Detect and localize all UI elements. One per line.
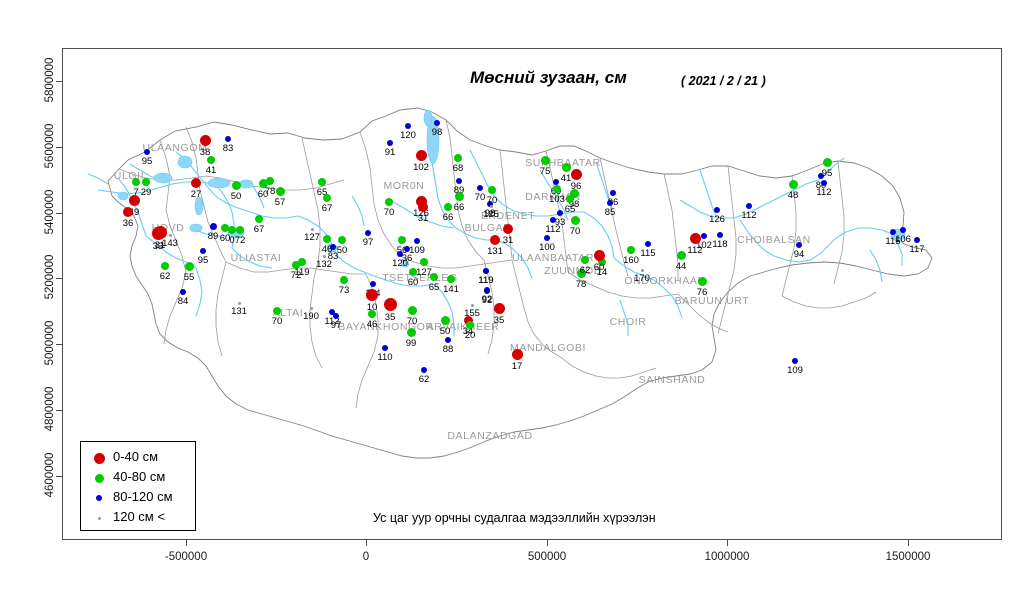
station-value-label: 127 — [304, 232, 320, 243]
station-point — [641, 269, 644, 272]
station-value-label: 48 — [788, 190, 799, 201]
station-point — [169, 234, 172, 237]
legend-item: 80-120 см — [81, 488, 197, 508]
station-value-label: 102 — [413, 162, 429, 173]
legend-label: 0-40 см — [113, 449, 158, 464]
station-point — [228, 226, 236, 234]
x-axis-tick — [908, 540, 909, 546]
station-point — [466, 321, 474, 329]
station-point — [418, 202, 428, 212]
station-point — [914, 237, 920, 243]
station-point — [333, 313, 339, 319]
station-point — [129, 195, 140, 206]
station-point — [488, 186, 496, 194]
station-point — [421, 367, 427, 373]
y-axis-tick — [56, 147, 62, 148]
station-point — [255, 215, 263, 223]
station-point — [456, 178, 462, 184]
station-point — [273, 307, 281, 315]
legend-swatch — [96, 495, 102, 501]
city-label: BARUUN URT — [675, 295, 750, 307]
station-point — [823, 158, 832, 167]
station-value-label: 17 — [512, 361, 523, 372]
station-point — [571, 169, 582, 180]
station-value-label: 88 — [443, 344, 454, 355]
station-value-label: 50 — [440, 326, 451, 337]
station-value-label: 97 — [363, 237, 374, 248]
station-value-label: 99 — [406, 338, 417, 349]
station-point — [447, 275, 455, 283]
x-axis-tick-label: 0 — [363, 551, 369, 563]
station-value-label: 31 — [503, 235, 514, 246]
station-value-label: 62 — [419, 374, 430, 385]
station-value-label: 72 — [235, 235, 246, 246]
station-point — [132, 178, 140, 186]
station-value-label: 60 — [594, 262, 605, 273]
station-point — [455, 192, 464, 201]
station-point — [398, 236, 406, 244]
y-axis-tick-label: 4800000 — [44, 383, 56, 435]
y-axis-tick-label: 4600000 — [44, 449, 56, 501]
legend-item: 120 см < — [81, 508, 197, 528]
station-point — [503, 224, 513, 234]
y-axis-tick — [56, 278, 62, 279]
station-point — [384, 298, 397, 311]
map-date: ( 2021 / 2 / 21 ) — [681, 74, 766, 88]
station-point — [323, 194, 331, 202]
y-axis-tick-label: 5400000 — [44, 186, 56, 238]
map-root: -500000050000010000001500000580000056000… — [0, 0, 1024, 614]
station-point — [232, 181, 241, 190]
station-point — [298, 258, 306, 266]
station-value-label: 120 — [392, 258, 408, 269]
station-value-label: 103 — [549, 194, 565, 205]
station-value-label: 112 — [816, 187, 831, 198]
city-label: BAYANKHONGOR — [338, 321, 434, 333]
station-value-label: 91 — [385, 147, 396, 158]
map-caption: Ус цаг уур орчны судалгаа мэдээллийн хүр… — [373, 511, 656, 525]
legend-item: 0-40 см — [81, 448, 197, 468]
station-value-label: 78 — [265, 186, 276, 197]
station-value-label: 73 — [339, 285, 350, 296]
station-point — [490, 235, 500, 245]
station-point — [225, 136, 231, 142]
station-point — [416, 150, 427, 161]
station-value-label: 117 — [909, 244, 924, 255]
station-point — [562, 163, 571, 172]
station-value-label: 155 — [464, 308, 480, 319]
station-value-label: 35 — [494, 315, 505, 326]
station-point — [690, 233, 701, 244]
station-point — [477, 185, 483, 191]
station-point — [471, 304, 474, 307]
city-label: SAINSHAND — [639, 374, 706, 386]
station-point — [512, 349, 523, 360]
station-value-label: 97 — [331, 320, 342, 331]
station-value-label: 67 — [322, 203, 333, 214]
station-point — [370, 281, 376, 287]
station-point — [310, 307, 313, 310]
station-value-label: 110 — [377, 352, 392, 363]
station-point — [550, 217, 556, 223]
station-value-label: 70 — [475, 192, 486, 203]
station-point — [645, 241, 651, 247]
station-value-label: 170 — [634, 273, 650, 284]
station-point — [698, 277, 707, 286]
station-point — [796, 242, 802, 248]
station-point — [407, 328, 416, 337]
station-point — [717, 232, 723, 238]
station-value-label: 112 — [741, 210, 756, 221]
station-point — [701, 233, 707, 239]
station-point — [266, 177, 274, 185]
station-point — [444, 203, 452, 211]
station-point — [404, 246, 410, 252]
station-value-label: 132 — [316, 259, 332, 270]
station-value-label: 62 — [160, 271, 171, 282]
station-point — [323, 255, 326, 258]
station-point — [330, 244, 336, 250]
station-value-label: 190 — [303, 311, 319, 322]
station-point — [207, 156, 215, 164]
station-point — [420, 258, 428, 266]
city-label: DALANZADGAD — [447, 430, 532, 442]
station-value-label: 76 — [697, 287, 708, 298]
station-value-label: 67 — [254, 224, 265, 235]
y-axis-tick-label: 5600000 — [44, 120, 56, 172]
station-value-label: 92 — [482, 295, 493, 306]
station-value-label: 95 — [142, 156, 153, 167]
station-value-label: 55 — [184, 272, 195, 283]
station-point — [409, 268, 417, 276]
station-value-label: 57 — [275, 197, 286, 208]
station-point — [454, 154, 462, 162]
station-point — [434, 120, 440, 126]
x-axis-tick — [727, 540, 728, 546]
station-value-label: 66 — [454, 202, 465, 213]
station-point — [142, 178, 150, 186]
station-point — [430, 273, 438, 281]
station-point — [821, 180, 827, 186]
legend-swatch — [98, 517, 101, 520]
station-value-label: 131 — [487, 246, 503, 257]
station-value-label: 109 — [787, 365, 803, 376]
station-point — [144, 149, 150, 155]
station-value-label: 95 — [198, 255, 209, 266]
station-point — [594, 250, 605, 261]
station-point — [557, 210, 563, 216]
city-label: MOR0N — [384, 180, 425, 192]
station-point — [340, 276, 348, 284]
y-axis-tick-label: 5200000 — [44, 251, 56, 303]
station-value-label: 68 — [453, 163, 464, 174]
station-value-label: 84 — [178, 296, 189, 307]
y-axis-tick — [56, 410, 62, 411]
station-value-label: 31 — [418, 213, 429, 224]
legend-swatch — [94, 453, 105, 464]
station-point — [185, 262, 194, 271]
station-value-label: 118 — [712, 239, 727, 250]
station-value-label: 29 — [141, 187, 152, 198]
station-point — [200, 248, 206, 254]
station-point — [323, 235, 331, 243]
station-point — [571, 216, 580, 225]
x-axis-tick-label: 1500000 — [886, 551, 931, 563]
x-axis-tick-label: 500000 — [528, 551, 566, 563]
station-value-label: 46 — [367, 319, 378, 330]
legend-label: 40-80 см — [113, 469, 165, 484]
station-value-label: 41 — [206, 165, 217, 176]
station-value-label: 62 — [580, 265, 591, 276]
station-point — [494, 303, 505, 314]
station-point — [414, 238, 420, 244]
station-point — [366, 289, 378, 301]
station-point — [544, 235, 550, 241]
station-value-label: 50 — [337, 245, 348, 256]
station-point — [161, 262, 169, 270]
station-point — [311, 228, 314, 231]
station-value-label: 70 — [570, 226, 581, 237]
station-point — [382, 345, 388, 351]
station-value-label: 126 — [709, 214, 725, 225]
station-point — [123, 207, 133, 217]
station-point — [484, 288, 490, 294]
station-value-label: 65 — [429, 282, 440, 293]
station-point — [581, 256, 589, 264]
station-point — [553, 185, 561, 193]
y-axis-tick-label: 5000000 — [44, 317, 56, 369]
city-label: ULAANGOM — [143, 142, 208, 154]
station-point — [627, 246, 635, 254]
station-value-label: 44 — [676, 261, 687, 272]
legend: 0-40 см40-80 см80-120 см120 см < — [80, 441, 196, 531]
station-value-label: 89 — [208, 231, 219, 242]
station-value-label: 125 — [483, 209, 499, 220]
station-value-label: 20 — [465, 330, 476, 341]
station-value-label: 112 — [687, 245, 702, 256]
x-axis-tick — [547, 540, 548, 546]
station-value-label: 41 — [561, 173, 572, 184]
city-label: CHOIR — [610, 316, 647, 328]
station-value-label: 119 — [478, 275, 493, 286]
plot-frame — [62, 48, 1002, 540]
station-point — [397, 251, 403, 257]
station-value-label: 83 — [223, 143, 234, 154]
station-value-label: 141 — [443, 284, 459, 295]
station-value-label: 70 — [384, 207, 395, 218]
station-point — [368, 310, 376, 318]
station-value-label: 112 — [545, 224, 560, 235]
station-point — [191, 178, 201, 188]
legend-label: 120 см < — [113, 509, 165, 524]
station-value-label: 115 — [640, 248, 655, 259]
station-value-label: 98 — [432, 127, 443, 138]
station-point — [714, 207, 720, 213]
station-point — [900, 227, 906, 233]
station-point — [441, 316, 450, 325]
city-label: ULIASTAI — [231, 252, 282, 264]
x-axis-tick-label: 1000000 — [705, 551, 750, 563]
station-point — [792, 358, 798, 364]
y-axis-tick — [56, 344, 62, 345]
station-point — [610, 190, 616, 196]
x-axis-tick — [186, 540, 187, 546]
station-value-label: 36 — [123, 218, 134, 229]
station-value-label: 66 — [443, 212, 454, 223]
station-point — [566, 195, 574, 203]
station-point — [238, 302, 241, 305]
y-axis-tick — [56, 213, 62, 214]
station-value-label: 70 — [487, 195, 498, 206]
station-point — [387, 140, 393, 146]
y-axis-tick — [56, 81, 62, 82]
legend-label: 80-120 см — [113, 489, 173, 504]
station-point — [445, 337, 451, 343]
station-point — [318, 178, 326, 186]
station-value-label: 27 — [191, 189, 202, 200]
station-point — [677, 251, 686, 260]
y-axis-tick — [56, 476, 62, 477]
station-value-label: 50 — [231, 191, 242, 202]
legend-swatch — [95, 474, 104, 483]
station-value-label: 70 — [407, 316, 418, 327]
station-point — [236, 226, 244, 234]
station-point — [180, 289, 186, 295]
station-value-label: 78 — [576, 279, 587, 290]
legend-item: 40-80 см — [81, 468, 197, 488]
station-value-label: 35 — [385, 312, 396, 323]
station-point — [276, 187, 285, 196]
station-value-label: 85 — [605, 207, 616, 218]
station-point — [483, 268, 489, 274]
x-axis-tick-label: -500000 — [165, 551, 207, 563]
station-point — [405, 123, 411, 129]
x-axis-tick — [366, 540, 367, 546]
station-point — [200, 135, 211, 146]
station-point — [408, 306, 417, 315]
station-point — [789, 180, 798, 189]
station-point — [607, 200, 613, 206]
station-value-label: 95 — [822, 168, 833, 179]
map-title: Мөсний зузаан, см — [470, 68, 627, 88]
station-point — [541, 156, 550, 165]
station-value-label: 100 — [539, 242, 555, 253]
station-point — [746, 203, 752, 209]
station-value-label: 70 — [272, 316, 283, 327]
station-value-label: 131 — [231, 306, 247, 317]
y-axis-tick-label: 5800000 — [44, 54, 56, 106]
station-value-label: 120 — [400, 130, 416, 141]
station-value-label: 65 — [565, 204, 576, 215]
station-value-label: 143 — [162, 238, 178, 249]
station-point — [210, 223, 217, 230]
station-value-label: 60 — [408, 277, 419, 288]
station-value-label: 94 — [794, 249, 805, 260]
station-value-label: 75 — [540, 166, 551, 177]
station-point — [385, 198, 393, 206]
station-value-label: 160 — [623, 255, 639, 266]
station-point — [365, 230, 371, 236]
station-point — [338, 236, 346, 244]
station-value-label: 119 — [294, 267, 309, 278]
